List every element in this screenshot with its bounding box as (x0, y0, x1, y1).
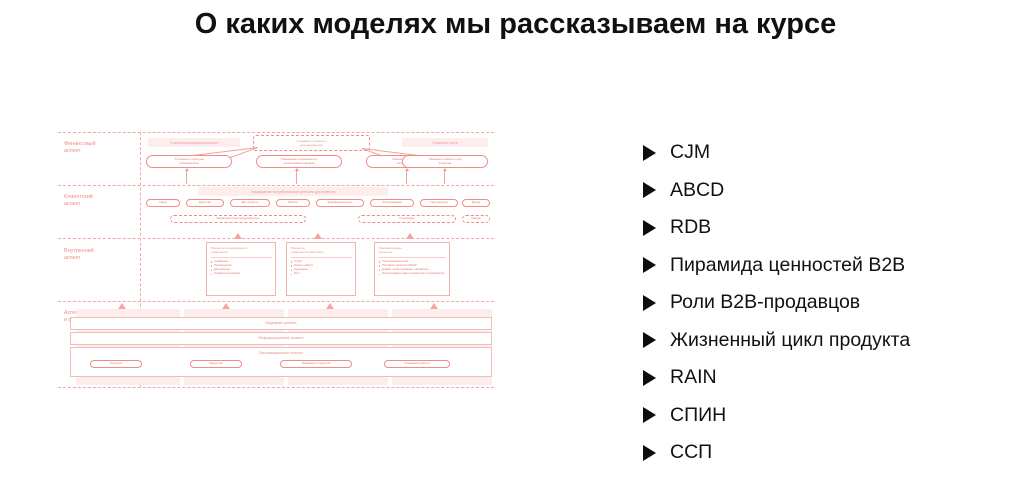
list-item-rain[interactable]: RAIN (643, 359, 1013, 397)
financial-pill-2-line2: использования активов (283, 162, 314, 166)
arrow-internal-to-client-1 (234, 233, 242, 239)
client-group-relations: Отношения (358, 215, 456, 223)
shareholder-value-objective: Создание стоимости для акционеров (253, 135, 370, 151)
client-pill-3: Доступность (230, 199, 270, 207)
internal-process-box-1-list: Снабжение Производство Дистрибуция Управ… (211, 260, 272, 276)
triangle-right-icon (643, 332, 656, 348)
learning-bar-information-capital: Информационный капитал (70, 332, 492, 345)
bsc-rowlabel-internal-line2: аспект (64, 255, 134, 262)
internal-process-box-2: Процессы управления клиентами Отбор Нача… (286, 242, 356, 296)
bsc-rowlabel-financial-line2: аспект (64, 148, 134, 155)
model-label: CJM (670, 141, 710, 164)
list-item-value-pyramid-b2b[interactable]: Пирамида ценностей B2B (643, 247, 1013, 285)
triangle-right-icon (643, 370, 656, 386)
financial-pill-4-line2: клиентов (439, 162, 451, 166)
client-group-product: Характеристики продукта/услуги (170, 215, 306, 223)
triangle-right-icon (643, 257, 656, 273)
riser-client-to-financial-3 (406, 171, 407, 184)
learning-pill-leadership: Лидерство (190, 360, 242, 368)
model-label: ABCD (670, 179, 724, 202)
shareholder-value-objective-line2: для акционеров (300, 143, 323, 147)
financial-pill-1-line2: собственности (179, 162, 199, 166)
model-label: Жизненный цикл продукта (670, 329, 910, 352)
arrow-learning-to-internal-2 (222, 303, 230, 309)
client-group-image: Имидж (462, 215, 490, 223)
models-list: CJM ABCD RDB Пирамида ценностей B2B Роли… (643, 134, 1013, 472)
triangle-right-icon (643, 220, 656, 236)
list-item-abcd[interactable]: ABCD (643, 172, 1013, 210)
model-label: ССП (670, 441, 712, 464)
bsc-rowlabel-client-line1: Клиентский (64, 194, 134, 201)
list-item-cjm[interactable]: CJM (643, 134, 1013, 172)
client-pill-1: Цена (146, 199, 180, 207)
internal-process-box-3-header-line2: процессы (379, 250, 446, 254)
model-label: Пирамида ценностей B2B (670, 254, 905, 277)
client-pill-6: Обслуживание (370, 199, 414, 207)
internal-process-box-2-header-line2: управления клиентами (291, 250, 352, 254)
financial-pill-1: Улучшение структуры собственности (146, 155, 232, 168)
bsc-rowlabel-internal-line1: Внутренний (64, 248, 134, 255)
internal-process-box-1: Процессы операционного управления Снабже… (206, 242, 276, 296)
internal-process-box-1-header-line2: управления (211, 250, 272, 254)
page-title: О каких моделях мы рассказываем на курсе (0, 8, 1031, 41)
learning-bar-human-capital: Кадровый капитал (70, 317, 492, 330)
bsc-diagram: Финансовый аспект Клиентский аспект Внут… (58, 132, 494, 387)
learning-pill-strategy-alignment: Привязка к стратегии (280, 360, 352, 368)
triangle-right-icon (643, 445, 656, 461)
list-item-spin[interactable]: СПИН (643, 397, 1013, 435)
triangle-right-icon (643, 407, 656, 423)
list-item-product-lifecycle[interactable]: Жизненный цикл продукта (643, 322, 1013, 360)
list-item-rdb[interactable]: RDB (643, 209, 1013, 247)
client-pill-2: Качество (186, 199, 224, 207)
internal-process-box-1-header: Процессы операционного управления (211, 246, 272, 258)
list-item-ssp[interactable]: ССП (643, 434, 1013, 472)
bsc-rowlabel-financial-line1: Финансовый (64, 141, 134, 148)
arrow-learning-to-internal-1 (118, 303, 126, 309)
client-value-proposition-banner: Предложение потребительской ценности для… (198, 187, 388, 196)
bsc-rowlabel-client: Клиентский аспект (64, 194, 134, 209)
arrow-learning-to-internal-3 (326, 303, 334, 309)
financial-pill-4: Повышать ценность для клиентов (402, 155, 488, 168)
strategy-productivity-banner: Стратегия производительности (148, 138, 240, 147)
model-label: Роли B2B-продавцов (670, 291, 860, 314)
riser-client-to-financial-1 (186, 171, 187, 184)
client-pill-4: Выбор (276, 199, 310, 207)
triangle-right-icon (643, 295, 656, 311)
model-label: RAIN (670, 366, 717, 389)
arrow-internal-to-client-2 (314, 233, 322, 239)
client-pill-5: Функциональность (316, 199, 364, 207)
list-item: Рост (291, 272, 352, 276)
internal-process-box-3-list: Поиск возможностей Портфель проектов НИО… (379, 260, 446, 276)
list-item: Управление рисками (211, 272, 272, 276)
learning-pill-culture: Культура (90, 360, 142, 368)
client-pill-8: Бренд (462, 199, 490, 207)
list-item-b2b-seller-roles[interactable]: Роли B2B-продавцов (643, 284, 1013, 322)
internal-process-box-3: Инновационные процессы Поиск возможносте… (374, 242, 450, 296)
list-item: Использование новых разработок в произво… (379, 272, 446, 276)
model-label: СПИН (670, 404, 726, 427)
riser-client-to-financial-2 (296, 171, 297, 184)
riser-client-to-financial-4 (444, 171, 445, 184)
arrow-learning-to-internal-4 (430, 303, 438, 309)
internal-process-box-2-header: Процессы управления клиентами (291, 246, 352, 258)
internal-process-box-2-list: Отбор Начало работы Удержание Рост (291, 260, 352, 276)
arrow-internal-to-client-3 (406, 233, 414, 239)
learning-bar-organizational-capital-label: Организационный капитал (259, 351, 304, 356)
client-pill-7: Партнерство (420, 199, 458, 207)
triangle-right-icon (643, 182, 656, 198)
internal-process-box-3-header: Инновационные процессы (379, 246, 446, 258)
bsc-rowlabel-internal: Внутренний аспект (64, 248, 134, 263)
strategy-growth-banner: Стратегия роста (402, 138, 488, 147)
triangle-right-icon (643, 145, 656, 161)
model-label: RDB (670, 216, 711, 239)
learning-pill-teamwork: Командная работа (384, 360, 450, 368)
financial-pill-2: Повышение интенсивности использования ак… (256, 155, 342, 168)
bsc-rowlabel-financial: Финансовый аспект (64, 141, 134, 156)
bsc-rowlabel-client-line2: аспект (64, 201, 134, 208)
